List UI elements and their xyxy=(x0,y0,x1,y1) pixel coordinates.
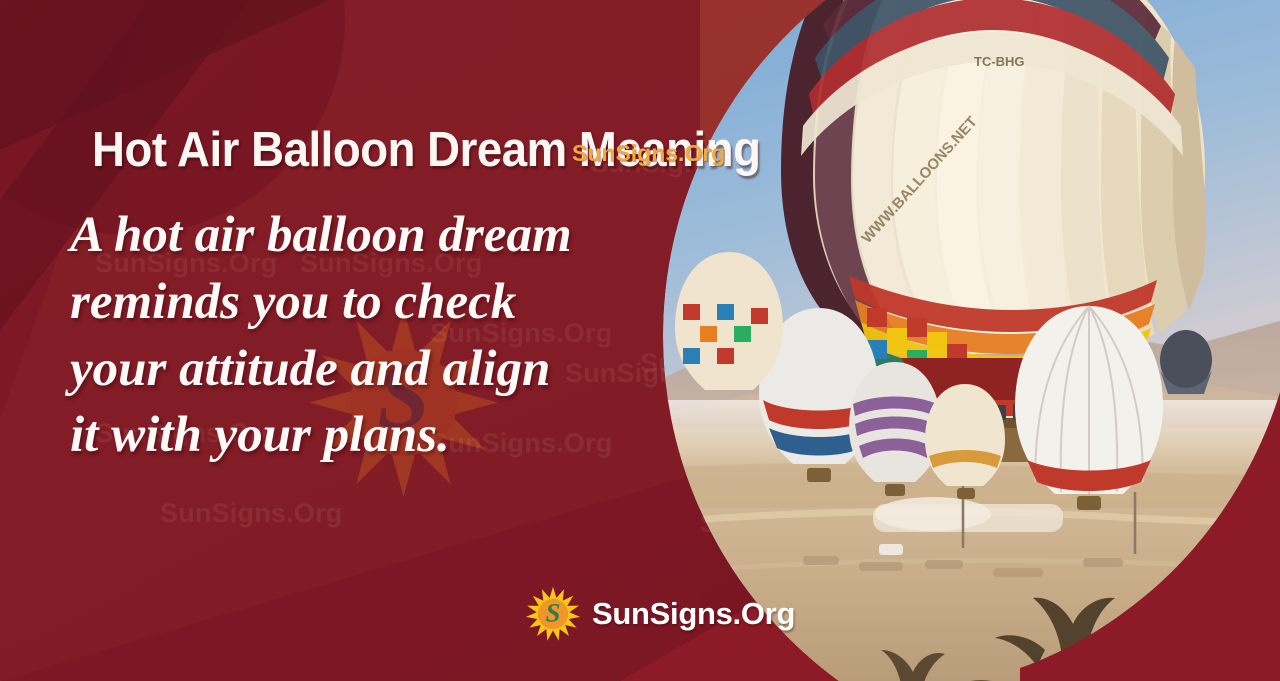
lede-line: reminds you to check xyxy=(70,269,730,336)
sun-logo-icon: S xyxy=(524,585,582,643)
brand-wordmark: SunSigns.Org xyxy=(592,596,795,632)
banner-root: S SunSigns.Org SunSigns.Org SunSigns.Org… xyxy=(0,0,1280,681)
brand-logo[interactable]: S SunSigns.Org xyxy=(524,585,795,643)
lede-line: it with your plans. xyxy=(70,402,730,469)
balloon-photo-svg: TC-BHG WWW.BALLOONS.NET xyxy=(663,0,1280,681)
lede-paragraph: A hot air balloon dream reminds you to c… xyxy=(70,202,730,469)
logo-letter: S xyxy=(546,598,561,628)
balloon-photo: TC-BHG WWW.BALLOONS.NET xyxy=(663,0,1280,681)
title-brand-subtitle: SunSigns.Org xyxy=(572,140,725,167)
lede-line: A hot air balloon dream xyxy=(70,202,730,269)
lede-line: your attitude and align xyxy=(70,336,730,403)
balloon-registration-text: TC-BHG xyxy=(974,54,1025,69)
